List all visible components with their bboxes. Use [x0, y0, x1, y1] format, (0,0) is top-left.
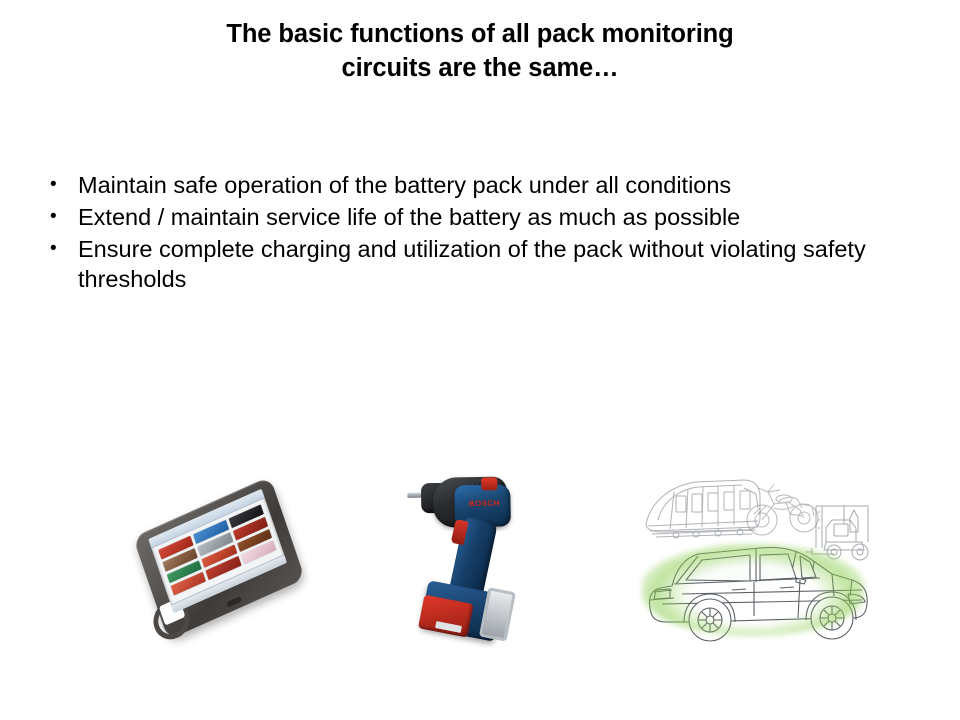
list-item: • Extend / maintain service life of the … — [44, 202, 924, 232]
tablet-device-image — [122, 498, 312, 623]
list-item: • Ensure complete charging and utilizati… — [44, 234, 924, 294]
tablet-screen — [148, 489, 287, 613]
book-cover — [237, 529, 272, 553]
train-icon — [640, 474, 766, 542]
motorcycle-icon — [744, 474, 822, 542]
tablet-body — [133, 476, 305, 640]
drill-battery-label — [435, 621, 462, 633]
drill-brand-label: BOSCH — [469, 499, 500, 509]
tablet-bezel — [133, 476, 305, 640]
drill-bit-icon — [407, 493, 427, 498]
book-cover — [206, 556, 241, 580]
drill-body: BOSCH — [387, 460, 558, 659]
cordless-impact-driver-image: BOSCH — [398, 468, 548, 650]
drill-motor-housing — [432, 477, 507, 528]
tablet-home-button-icon — [225, 595, 242, 608]
book-cover — [171, 572, 206, 596]
book-cover — [228, 504, 263, 528]
drill-handle — [448, 515, 498, 600]
book-cover — [241, 541, 276, 565]
tablet-corner-loop-icon — [148, 595, 194, 645]
vehicle-cluster-image — [636, 472, 886, 652]
drill-trigger — [451, 519, 469, 545]
book-cover — [232, 517, 267, 541]
figure-row: BOSCH — [0, 0, 960, 720]
forklift-icon — [804, 498, 884, 564]
drill-battery-pack — [420, 580, 504, 642]
book-cover — [202, 544, 237, 568]
book-cover — [197, 532, 232, 556]
drill-main-body — [454, 484, 511, 527]
car-green-glow — [642, 544, 864, 636]
page-title: The basic functions of all pack monitori… — [80, 18, 880, 86]
drill-vent-grille — [471, 483, 506, 524]
title-line-2: circuits are the same… — [80, 52, 880, 86]
list-item: • Maintain safe operation of the battery… — [44, 170, 924, 200]
tablet-status-bar — [148, 489, 265, 549]
drill-battery-front — [418, 595, 474, 638]
drill-top-accent — [481, 477, 497, 490]
bullet-marker-icon: • — [44, 234, 78, 263]
drill-chuck — [421, 483, 452, 514]
drill-belt-clip — [479, 587, 516, 641]
title-line-1: The basic functions of all pack monitori… — [80, 18, 880, 52]
book-cover — [158, 536, 193, 560]
bullet-marker-icon: • — [44, 202, 78, 231]
book-cover-grid — [152, 498, 284, 602]
book-cover — [167, 560, 202, 584]
bullet-text: Extend / maintain service life of the ba… — [78, 202, 906, 232]
bullet-text: Ensure complete charging and utilization… — [78, 234, 906, 294]
bullet-list: • Maintain safe operation of the battery… — [44, 170, 924, 296]
bullet-text: Maintain safe operation of the battery p… — [78, 170, 906, 200]
book-cover — [193, 520, 228, 544]
bullet-marker-icon: • — [44, 170, 78, 199]
book-cover — [162, 548, 197, 572]
suv-crossover-icon — [636, 534, 876, 650]
tablet-nav-bar — [171, 554, 287, 613]
